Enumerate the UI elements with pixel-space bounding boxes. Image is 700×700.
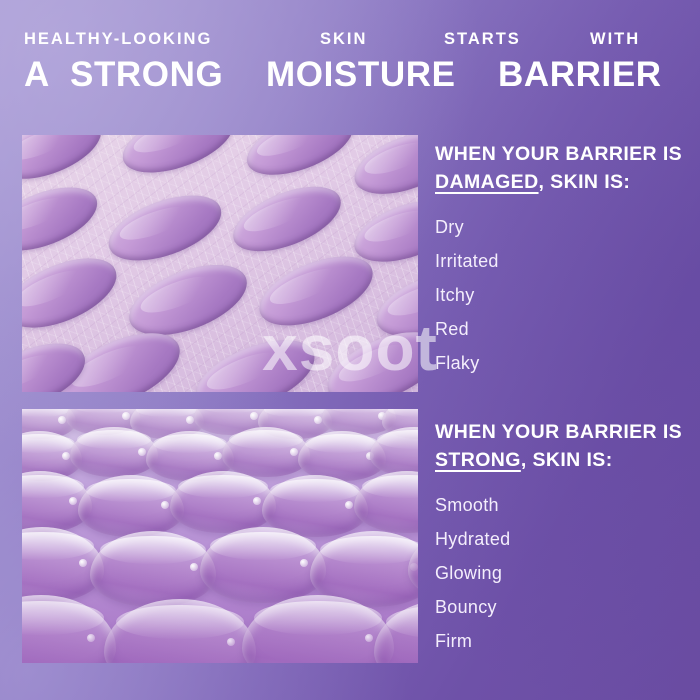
list-item: Firm — [435, 632, 685, 650]
list-item: Hydrated — [435, 530, 685, 548]
list-item: Flaky — [435, 354, 685, 372]
plump-bubble — [104, 599, 256, 663]
plump-bubble — [78, 475, 184, 537]
headline-word-healthy-looking: HEALTHY-LOOKING — [24, 30, 320, 48]
strong-section-heading: WHEN YOUR BARRIER IS STRONG, SKIN IS: — [435, 419, 685, 474]
list-item: Itchy — [435, 286, 685, 304]
damaged-barrier-texture — [22, 135, 418, 392]
headline-word-a: A — [24, 54, 70, 95]
plump-bubble — [222, 427, 310, 477]
headline-word-moisture: MOISTURE — [266, 54, 498, 95]
strong-barrier-section: WHEN YOUR BARRIER IS STRONG, SKIN IS: Sm… — [435, 419, 685, 666]
poster-canvas: HEALTHY-LOOKING SKIN STARTS WITH A STRON… — [0, 0, 700, 700]
headline-word-with: WITH — [590, 30, 640, 48]
strong-heading-prefix: WHEN YOUR BARRIER IS — [435, 421, 682, 443]
strong-barrier-texture — [22, 409, 418, 663]
list-item: Smooth — [435, 496, 685, 514]
headline-line-1: HEALTHY-LOOKING SKIN STARTS WITH — [24, 30, 680, 48]
strong-heading-emphasis: STRONG — [435, 449, 521, 471]
strong-benefit-list: Smooth Hydrated Glowing Bouncy Firm — [435, 496, 685, 650]
damaged-symptom-list: Dry Irritated Itchy Red Flaky — [435, 218, 685, 372]
damaged-section-heading: WHEN YOUR BARRIER IS DAMAGED, SKIN IS: — [435, 141, 685, 196]
list-item: Red — [435, 320, 685, 338]
headline-word-barrier: BARRIER — [498, 54, 662, 95]
plump-bubble — [22, 595, 116, 663]
list-item: Bouncy — [435, 598, 685, 616]
damaged-barrier-section: WHEN YOUR BARRIER IS DAMAGED, SKIN IS: D… — [435, 141, 685, 388]
plump-bubble — [170, 471, 276, 533]
strong-barrier-photo — [22, 409, 418, 663]
damaged-barrier-photo — [22, 135, 418, 392]
damaged-heading-prefix: WHEN YOUR BARRIER IS — [435, 143, 682, 165]
headline-word-starts: STARTS — [444, 30, 590, 48]
headline-word-skin: SKIN — [320, 30, 444, 48]
list-item: Glowing — [435, 564, 685, 582]
headline: HEALTHY-LOOKING SKIN STARTS WITH A STRON… — [24, 30, 680, 95]
damaged-heading-suffix: , SKIN IS: — [539, 171, 631, 193]
list-item: Irritated — [435, 252, 685, 270]
strong-heading-suffix: , SKIN IS: — [521, 449, 613, 471]
plump-bubble — [354, 471, 418, 533]
plump-bubble — [70, 427, 158, 477]
damaged-heading-emphasis: DAMAGED — [435, 171, 539, 193]
list-item: Dry — [435, 218, 685, 236]
plump-bubble — [90, 531, 216, 607]
plump-bubble — [200, 527, 326, 603]
plump-bubble — [374, 599, 418, 663]
headline-line-2: A STRONG MOISTURE BARRIER — [24, 54, 680, 95]
headline-word-strong: STRONG — [70, 54, 266, 95]
